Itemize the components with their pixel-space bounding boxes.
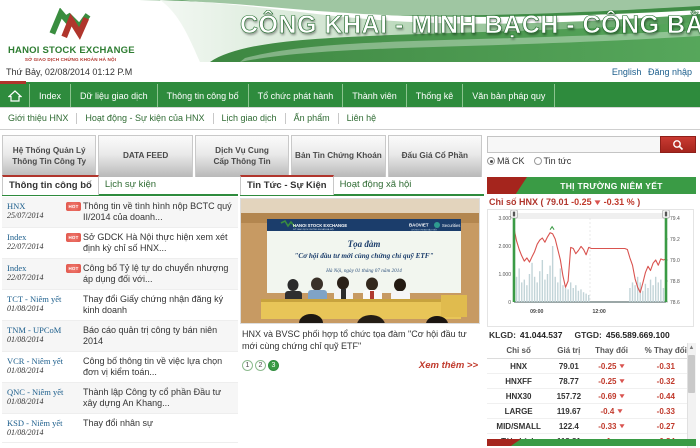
news-code: KSD - Niêm yết 01/08/2014	[4, 418, 66, 438]
quick-button-label: DATA FEED	[123, 151, 168, 162]
current-datetime: Thứ Bảy, 02/08/2014 01:12 P.M	[6, 67, 132, 77]
svg-text:3.000: 3.000	[498, 216, 511, 222]
table-row[interactable]: HNXFF78.77-0.25 -0.32	[487, 374, 696, 389]
index-label: Chỉ số HNX	[489, 197, 538, 207]
list-item[interactable]: TNM - UPCoM 01/08/2014 Báo cáo quản trị …	[2, 321, 238, 352]
quick-button-label: Hệ Thống Quản Lý Thông Tin Công Ty	[12, 146, 86, 167]
cell-index-change: -0.25	[587, 374, 635, 389]
featured-news-pager: 1 2 3 Xem thêm >>	[240, 352, 484, 371]
nav-item-disclosure[interactable]: Thông tin công bố	[158, 84, 249, 107]
table-row[interactable]: LARGE119.67-0.4 -0.33	[487, 404, 696, 419]
utility-links: English Đăng nhập	[608, 67, 692, 77]
pager-dot-2[interactable]: 2	[255, 360, 266, 371]
panel-bottom-bar	[487, 439, 696, 446]
subnav-item-trading-calendar[interactable]: Lịch giao dịch	[214, 113, 286, 124]
search-icon	[672, 139, 684, 151]
svg-text:12:00: 12:00	[592, 309, 605, 315]
quick-button-info-service[interactable]: Dịch Vụ Cung Cấp Thông Tin	[195, 135, 289, 177]
featured-news-image[interactable]: HANOI STOCK EXCHANGE SỞ GIAO DỊCH CHỨNG …	[240, 198, 480, 324]
table-header-row: Chỉ sốGiá trịThay đổi% Thay đổi	[487, 343, 696, 359]
news-events-panel: Tin Tức - Sự Kiện Hoạt động xã hội HANOI…	[240, 177, 484, 446]
svg-text:BAOVIET: BAOVIET	[409, 223, 429, 228]
news-code-label: HNX	[7, 201, 25, 211]
nav-item-statistics[interactable]: Thống kê	[407, 84, 464, 107]
quick-button-label: Dịch Vụ Cung Cấp Thông Tin	[213, 146, 270, 167]
cell-index-value: 78.77	[550, 374, 587, 389]
hot-icon: HOT	[66, 233, 81, 242]
search-input[interactable]	[487, 136, 660, 153]
news-date: 25/07/2014	[7, 211, 66, 221]
cell-index-change: -0.4	[587, 404, 635, 419]
news-title[interactable]: Thông tin về tình hình nộp BCTC quý II/2…	[83, 201, 236, 223]
tab-disclosure-info[interactable]: Thông tin công bố	[2, 175, 99, 195]
volume-value: 41.044.537	[520, 330, 563, 340]
hot-badge-wrap	[66, 325, 83, 326]
index-value: 79.01	[546, 197, 569, 207]
search-area: Mã CK Tin tức	[487, 136, 696, 166]
news-title[interactable]: Thay đổi nhân sự	[83, 418, 236, 429]
quick-button-data-feed[interactable]: DATA FEED	[98, 135, 192, 177]
svg-text:78.8: 78.8	[670, 279, 680, 285]
cell-index-value: 157.72	[550, 389, 587, 404]
list-item[interactable]: Index 22/07/2014 HOT Sở GDCK Hà Nội thực…	[2, 228, 238, 259]
nav-item-index[interactable]: Index	[30, 84, 71, 107]
quick-button-securities-bulletin[interactable]: Bản Tin Chứng Khoán	[291, 135, 385, 177]
quick-button-label: Bản Tin Chứng Khoán	[295, 151, 382, 162]
see-more-link[interactable]: Xem thêm >>	[419, 360, 482, 371]
svg-text:2.000: 2.000	[498, 244, 511, 250]
disclosure-tabbar: Thông tin công bố Lịch sự kiện	[2, 177, 238, 196]
subnav-item-contact[interactable]: Liên hệ	[339, 113, 385, 124]
down-arrow-icon	[594, 199, 601, 206]
search-button[interactable]	[660, 136, 696, 153]
hnx-logo-icon	[45, 8, 97, 42]
news-code-label: QNC - Niêm yết	[7, 387, 63, 397]
chart-canvas: 3.0002.0001.000079.479.279.078.878.609:0…	[488, 210, 694, 327]
news-title[interactable]: Công bố thông tin về việc lựa chọn đơn v…	[83, 356, 236, 378]
table-row[interactable]: HNX79.01-0.25 -0.31	[487, 359, 696, 374]
down-arrow-icon	[617, 408, 623, 414]
quick-button-share-auction[interactable]: Đấu Giá Cổ Phần	[388, 135, 482, 177]
quick-service-buttons: Hệ Thống Quản Lý Thông Tin Công Ty DATA …	[0, 133, 482, 177]
nav-item-trading-data[interactable]: Dữ liệu giao dịch	[71, 84, 158, 107]
news-code: Index 22/07/2014	[4, 232, 66, 252]
list-item[interactable]: HNX 25/07/2014 HOT Thông tin về tình hìn…	[2, 197, 238, 228]
down-arrow-icon	[619, 423, 625, 429]
listed-market-panel: THỊ TRƯỜNG NIÊM YẾT Chỉ số HNX ( 79.01 -…	[487, 177, 696, 446]
svg-text:79.0: 79.0	[670, 258, 680, 264]
nav-filler	[555, 84, 700, 107]
turnover-label: GTGD:	[574, 330, 601, 340]
index-intraday-chart[interactable]: 3.0002.0001.000079.479.279.078.878.609:0…	[487, 209, 694, 327]
tab-event-calendar[interactable]: Lịch sự kiện	[99, 176, 162, 194]
news-code-label: VCR - Niêm yết	[7, 356, 63, 366]
hot-badge-wrap	[66, 387, 83, 388]
main-navigation: Index Dữ liệu giao dịch Thông tin công b…	[0, 84, 700, 108]
index-change-percent: -0.31 %	[604, 197, 635, 207]
news-title[interactable]: Thành lập Công ty cổ phần Đầu tư xây dựn…	[83, 387, 236, 409]
news-code-label: TNM - UPCoM	[7, 325, 61, 335]
red-tab-decoration	[487, 177, 527, 194]
news-tabbar: Tin Tức - Sự Kiện Hoạt động xã hội	[240, 177, 484, 196]
secondary-navigation: Giới thiệu HNX Hoạt động - Sự kiện của H…	[0, 108, 700, 130]
news-code: Index 22/07/2014	[4, 263, 66, 283]
down-arrow-icon	[619, 393, 625, 399]
turnover-value: 456.589.669.100	[606, 330, 670, 340]
nav-item-legal-documents[interactable]: Văn bản pháp quy	[463, 84, 555, 107]
scrollbar-thumb[interactable]	[688, 355, 695, 393]
logo-subtitle: SỞ GIAO DỊCH CHỨNG KHOÁN HÀ NỘI	[8, 57, 133, 62]
svg-text:HANOI STOCK EXCHANGE: HANOI STOCK EXCHANGE	[293, 223, 347, 228]
pager-dot-3[interactable]: 3	[268, 360, 279, 371]
news-date: 01/08/2014	[7, 397, 66, 407]
cell-index-name: HNX	[487, 359, 550, 374]
index-table-wrap: Chỉ sốGiá trịThay đổi% Thay đổi HNX79.01…	[487, 343, 696, 448]
featured-news-caption[interactable]: HNX và BVSC phối hợp tổ chức tọa đàm "Cơ…	[240, 324, 484, 352]
cell-index-name: LARGE	[487, 404, 550, 419]
disclosure-news-list: HNX 25/07/2014 HOT Thông tin về tình hìn…	[2, 197, 238, 443]
list-item[interactable]: VCR - Niêm yết 01/08/2014 Công bố thông …	[2, 352, 238, 383]
subnav-item-publications[interactable]: Ấn phẩm	[286, 113, 339, 124]
search-scope-radios: Mã CK Tin tức	[487, 156, 696, 166]
news-code: QNC - Niêm yết 01/08/2014	[4, 387, 66, 407]
news-date: 01/08/2014	[7, 335, 66, 345]
news-date: 22/07/2014	[7, 242, 66, 252]
svg-text:CHỨNG KHOÁN BẢO VIỆT: CHỨNG KHOÁN BẢO VIỆT	[411, 229, 438, 232]
news-code: HNX 25/07/2014	[4, 201, 66, 221]
svg-text:1.000: 1.000	[498, 272, 511, 278]
hot-badge-wrap	[66, 418, 83, 419]
logo[interactable]: HANOI STOCK EXCHANGE SỞ GIAO DỊCH CHỨNG …	[8, 8, 133, 62]
hot-badge-wrap: HOT	[66, 263, 83, 273]
hot-badge-wrap: HOT	[66, 232, 83, 242]
subnav-item-activities-events[interactable]: Hoạt động - Sự kiện của HNX	[77, 113, 213, 124]
list-item[interactable]: QNC - Niêm yết 01/08/2014 Thành lập Công…	[2, 383, 238, 414]
utility-bar: Thứ Bảy, 02/08/2014 01:12 P.M English Đă…	[0, 62, 700, 84]
hot-badge-wrap: HOT	[66, 201, 83, 211]
hot-icon: HOT	[66, 264, 81, 273]
radio-label-stock-code: Mã CK	[497, 156, 525, 166]
table-row[interactable]: MID/SMALL122.4-0.33 -0.27	[487, 419, 696, 434]
news-code: TNM - UPCoM 01/08/2014	[4, 325, 66, 345]
nav-item-issuers[interactable]: Tổ chức phát hành	[249, 84, 344, 107]
cell-index-change: -0.33	[587, 419, 635, 434]
table-body: HNX79.01-0.25 -0.31HNXFF78.77-0.25 -0.32…	[487, 359, 696, 448]
news-code: VCR - Niêm yết 01/08/2014	[4, 356, 66, 376]
list-item[interactable]: KSD - Niêm yết 01/08/2014 Thay đổi nhân …	[2, 414, 238, 443]
svg-text:Tọa đàm: Tọa đàm	[348, 239, 381, 249]
news-code: TCT - Niêm yết 01/08/2014	[4, 294, 66, 314]
news-code-label: Index	[7, 263, 26, 273]
search-row	[487, 136, 696, 153]
svg-text:Securities: Securities	[442, 223, 460, 228]
banner-slogan: CÔNG KHAI - MINH BẠCH - CÔNG BẰNG	[240, 11, 690, 40]
svg-text:0: 0	[508, 300, 511, 306]
svg-text:09:00: 09:00	[530, 309, 543, 315]
market-volume-summary: KLGD: 41.044.537 GTGD: 456.589.669.100	[487, 327, 696, 343]
news-title[interactable]: Sở GDCK Hà Nội thực hiện xem xét định kỳ…	[83, 232, 236, 254]
radio-button-stock-code[interactable]	[487, 157, 495, 165]
english-link[interactable]: English	[612, 67, 642, 77]
svg-text:79.4: 79.4	[670, 216, 680, 222]
table-column-header-1: Giá trị	[550, 343, 587, 359]
subnav-item-about-hnx[interactable]: Giới thiệu HNX	[6, 113, 77, 124]
table-column-header-0: Chỉ số	[487, 343, 550, 359]
cell-index-name: HNX30	[487, 389, 550, 404]
svg-text:Hà Nội, ngày 01 tháng 07 năm 2: Hà Nội, ngày 01 tháng 07 năm 2014	[325, 267, 402, 274]
cell-index-change: -0.25	[587, 359, 635, 374]
table-row[interactable]: HNX30157.72-0.69 -0.44	[487, 389, 696, 404]
news-date: 01/08/2014	[7, 304, 66, 314]
hot-icon: HOT	[66, 202, 81, 211]
nav-item-members[interactable]: Thành viên	[343, 84, 407, 107]
scroll-up-icon[interactable]: ▲	[688, 345, 695, 352]
red-accent-tab	[0, 81, 26, 84]
radio-label-news: Tin tức	[544, 156, 572, 166]
news-title[interactable]: Thay đổi Giấy chứng nhận đăng ký kinh do…	[83, 294, 236, 316]
index-change: -0.25	[571, 197, 592, 207]
news-code-label: Index	[7, 232, 26, 242]
site-banner: HANOI STOCK EXCHANGE SỞ GIAO DỊCH CHỨNG …	[0, 0, 700, 62]
pager-dot-1[interactable]: 1	[242, 360, 253, 371]
news-date: 01/08/2014	[7, 428, 66, 438]
index-table: Chỉ sốGiá trịThay đổi% Thay đổi HNX79.01…	[487, 343, 696, 448]
table-scrollbar[interactable]: ▲ ▼	[687, 343, 696, 448]
nav-home-button[interactable]	[0, 84, 30, 107]
hot-badge-wrap	[66, 294, 83, 295]
svg-text:79.2: 79.2	[670, 237, 680, 243]
list-item[interactable]: Index 22/07/2014 HOT Công bố Tỷ lệ tự do…	[2, 259, 238, 290]
logo-name: HANOI STOCK EXCHANGE	[8, 45, 133, 56]
cell-index-name: MID/SMALL	[487, 419, 550, 434]
tab-news-events[interactable]: Tin Tức - Sự Kiện	[240, 175, 334, 195]
market-panel-title: THỊ TRƯỜNG NIÊM YẾT	[527, 177, 696, 194]
news-code-label: TCT - Niêm yết	[7, 294, 61, 304]
disclosure-panel: Thông tin công bố Lịch sự kiện HNX 25/07…	[2, 177, 238, 446]
svg-text:78.6: 78.6	[670, 300, 680, 306]
tab-social-activities[interactable]: Hoạt động xã hội	[334, 176, 418, 194]
cell-index-name: HNXFF	[487, 374, 550, 389]
down-arrow-icon	[619, 378, 625, 384]
down-arrow-icon	[619, 363, 625, 369]
market-panel-header: THỊ TRƯỜNG NIÊM YẾT	[487, 177, 696, 194]
cell-index-change: -0.69	[587, 389, 635, 404]
quick-button-company-info-system[interactable]: Hệ Thống Quản Lý Thông Tin Công Ty	[2, 135, 96, 177]
home-icon	[8, 90, 22, 102]
index-summary: Chỉ số HNX ( 79.01 -0.25 -0.31 % )	[487, 194, 696, 209]
hot-badge-wrap	[66, 356, 83, 357]
list-item[interactable]: TCT - Niêm yết 01/08/2014 Thay đổi Giấy …	[2, 290, 238, 321]
svg-text:SỞ GIAO DỊCH CHỨNG KHOÁN HÀ NỘ: SỞ GIAO DỊCH CHỨNG KHOÁN HÀ NỘI	[293, 228, 334, 231]
cell-index-value: 79.01	[550, 359, 587, 374]
volume-label: KLGD:	[489, 330, 516, 340]
news-date: 22/07/2014	[7, 273, 66, 283]
bottom-bar-red-accent	[487, 439, 521, 446]
cell-index-value: 119.67	[550, 404, 587, 419]
login-link[interactable]: Đăng nhập	[648, 67, 692, 77]
news-code-label: KSD - Niêm yết	[7, 418, 62, 428]
news-title[interactable]: Công bố Tỷ lệ tự do chuyển nhượng áp dụn…	[83, 263, 236, 285]
news-date: 01/08/2014	[7, 366, 66, 376]
table-column-header-2: Thay đổi	[587, 343, 635, 359]
news-title[interactable]: Báo cáo quản trị công ty bán niên 2014	[83, 325, 236, 347]
radio-button-news[interactable]	[534, 157, 542, 165]
svg-text:"Cơ hội đầu tư mới cùng chứng: "Cơ hội đầu tư mới cùng chứng chỉ quỹ ET…	[294, 252, 433, 260]
conference-photo: HANOI STOCK EXCHANGE SỞ GIAO DỊCH CHỨNG …	[241, 199, 480, 324]
cell-index-value: 122.4	[550, 419, 587, 434]
quick-button-label: Đấu Giá Cổ Phần	[402, 151, 468, 162]
radio-option-stock-code[interactable]: Mã CK	[487, 156, 525, 166]
radio-option-news[interactable]: Tin tức	[534, 156, 572, 166]
